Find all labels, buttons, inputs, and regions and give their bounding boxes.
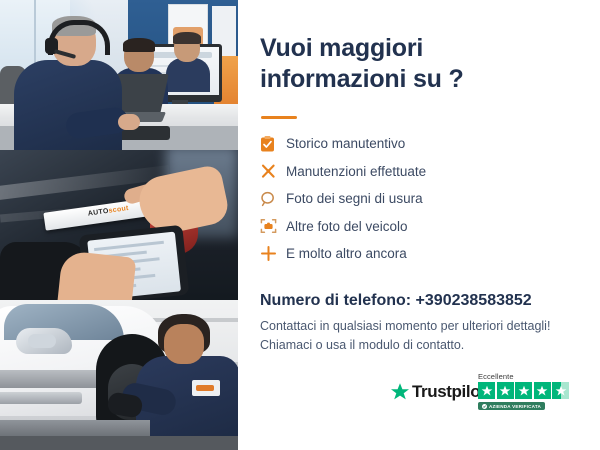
feature-label: Storico manutentivo bbox=[286, 136, 405, 151]
contact-line-2: Chiamaci o usa il modulo di contatto. bbox=[260, 336, 580, 355]
feature-item-altre-foto[interactable]: Altre foto del veicolo bbox=[260, 213, 510, 241]
headline-line-1: Vuoi maggiori bbox=[260, 33, 490, 64]
magnifier-icon bbox=[260, 191, 286, 207]
photo-paint-measurement: AUTOscout bbox=[0, 150, 238, 300]
feature-item-storico[interactable]: Storico manutentivo bbox=[260, 130, 510, 158]
photo-wheel-inspection bbox=[0, 300, 238, 450]
photo-column: AUTOscout bbox=[0, 0, 238, 450]
feature-label: Altre foto del veicolo bbox=[286, 219, 408, 234]
content-panel: Vuoi maggiori informazioni su ? Saremo f… bbox=[238, 0, 600, 450]
feature-list: Storico manutentivo Manutenzioni effettu… bbox=[260, 130, 510, 268]
phone-number[interactable]: Numero di telefono: +390238583852 bbox=[260, 292, 532, 310]
trustpilot-brand: Trustpilot bbox=[412, 382, 485, 402]
verified-check-icon bbox=[482, 404, 487, 409]
contact-text: Contattaci in qualsiasi momento per ulte… bbox=[260, 317, 580, 356]
feature-label: Foto dei segni di usura bbox=[286, 191, 423, 206]
photo-call-center bbox=[0, 0, 238, 150]
star-5 bbox=[552, 382, 569, 399]
verified-badge: AZIENDA VERIFICATA bbox=[478, 402, 545, 410]
star-4 bbox=[534, 382, 551, 399]
feature-item-manutenzioni[interactable]: Manutenzioni effettuate bbox=[260, 158, 510, 186]
feature-label: Manutenzioni effettuate bbox=[286, 164, 426, 179]
checklist-icon bbox=[260, 136, 286, 152]
star-2 bbox=[497, 382, 514, 399]
star-3 bbox=[515, 382, 532, 399]
person-decor-3 bbox=[166, 34, 210, 82]
title-divider bbox=[261, 116, 297, 119]
plus-icon bbox=[260, 245, 286, 262]
star-1 bbox=[478, 382, 495, 399]
feature-label: E molto altro ancora bbox=[286, 246, 407, 261]
hand-decor-2 bbox=[58, 250, 137, 300]
trustpilot-rating-label: Eccellente bbox=[478, 372, 514, 381]
verified-label: AZIENDA VERIFICATA bbox=[489, 404, 541, 409]
contact-line-1: Contattaci in qualsiasi momento per ulte… bbox=[260, 317, 580, 336]
tools-cross-icon bbox=[260, 163, 286, 180]
trustpilot-widget[interactable]: Trustpilot Eccellente AZIENDA VERIFICATA bbox=[390, 372, 588, 418]
trustpilot-stars bbox=[478, 382, 569, 399]
camera-frame-icon bbox=[260, 218, 286, 234]
feature-item-foto-usura[interactable]: Foto dei segni di usura bbox=[260, 185, 510, 213]
person-decor-1 bbox=[14, 18, 118, 150]
trustpilot-star-icon bbox=[390, 382, 410, 402]
headline-line-2: informazioni su ? bbox=[260, 64, 490, 95]
feature-item-altro[interactable]: E molto altro ancora bbox=[260, 240, 510, 268]
trustpilot-logo: Trustpilot bbox=[390, 382, 485, 402]
advertisement-card: AUTOscout bbox=[0, 0, 600, 450]
page-title: Vuoi maggiori informazioni su ? bbox=[260, 33, 490, 94]
strip-logo: AUTOscout bbox=[87, 205, 129, 218]
